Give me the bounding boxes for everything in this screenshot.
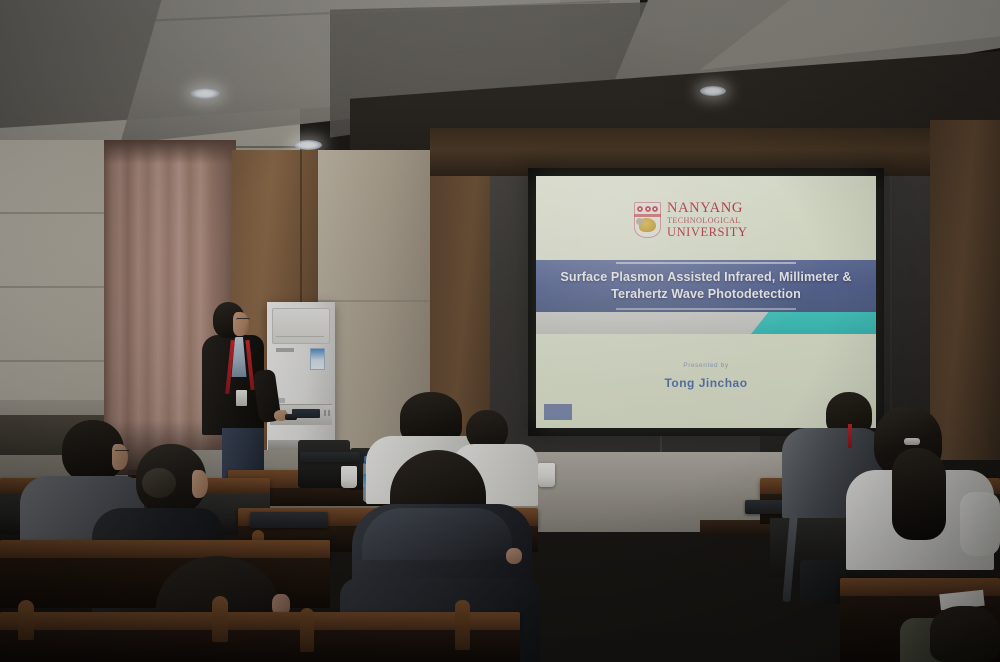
audience-face [112, 444, 128, 470]
laptop[interactable] [300, 452, 360, 462]
ceiling-downlight-icon [190, 88, 220, 99]
ac-brand-mark [276, 348, 294, 352]
bench-armrest [300, 608, 314, 652]
crest-lion-head-icon [636, 218, 643, 225]
glasses-icon [115, 450, 129, 454]
audience-face [192, 470, 208, 498]
lecture-hall-photo: NANYANG TECHNOLOGICAL UNIVERSITY Surface… [0, 0, 1000, 662]
slide-title: Surface Plasmon Assisted Infrared, Milli… [556, 269, 856, 302]
ac-seam [276, 336, 324, 337]
ntu-wordmark: NANYANG TECHNOLOGICAL UNIVERSITY [667, 201, 748, 238]
glasses-icon [236, 318, 250, 323]
presentation-slide: NANYANG TECHNOLOGICAL UNIVERSITY Surface… [536, 176, 876, 428]
slide-title-band: Surface Plasmon Assisted Infrared, Milli… [536, 260, 876, 312]
paper-cup [538, 463, 555, 487]
projection-screen[interactable]: NANYANG TECHNOLOGICAL UNIVERSITY Surface… [536, 176, 876, 428]
curtain-top-shadow [104, 140, 236, 164]
ntu-crest-icon [634, 202, 661, 238]
ac-vent-slot [328, 410, 330, 416]
crest-flower-icon [652, 206, 658, 212]
audience-hand [506, 548, 522, 564]
ceiling-downlight-icon [700, 86, 726, 96]
wall-panel-seam [318, 300, 438, 302]
audience-hood-fold [362, 508, 512, 560]
ac-air-vent [272, 308, 330, 344]
paper-cup [341, 466, 357, 488]
audience-arm [960, 492, 1000, 556]
bench-armrest [455, 600, 470, 650]
title-rule-bottom [616, 308, 796, 310]
presentation-clicker[interactable] [285, 414, 297, 420]
bench-front-face [0, 630, 520, 662]
presenter-badge [236, 390, 247, 406]
hair-clip [904, 438, 920, 445]
ceiling-downlight-icon [294, 140, 322, 150]
audience-hair [892, 448, 946, 540]
ac-vent-slot [324, 410, 326, 416]
laptop[interactable] [250, 512, 328, 528]
audience-head [930, 606, 1000, 662]
presenter-face [233, 312, 249, 336]
audience-lanyard [848, 424, 852, 448]
bench-armrest [212, 596, 228, 642]
crest-flower-icon [645, 206, 651, 212]
presented-by-label: Presented by [536, 362, 876, 369]
ac-energy-label-sticker [310, 348, 325, 370]
crest-band [634, 214, 661, 217]
audience-hair-bun [142, 468, 176, 498]
slide-accent-band-teal [751, 312, 876, 334]
nanyang-technological-university-logo: NANYANG TECHNOLOGICAL UNIVERSITY [634, 198, 779, 242]
ntu-logo-line1: NANYANG [667, 201, 748, 216]
ntu-logo-line3: UNIVERSITY [667, 226, 748, 239]
slide-corner-block [544, 404, 572, 420]
ntu-logo-line2: TECHNOLOGICAL [667, 217, 748, 225]
bench-armrest [18, 600, 34, 640]
title-rule-top [616, 262, 796, 264]
wall-wood-panel-right [930, 120, 1000, 460]
slide-presenter-name: Tong Jinchao [536, 376, 876, 390]
crest-flower-icon [637, 206, 643, 212]
